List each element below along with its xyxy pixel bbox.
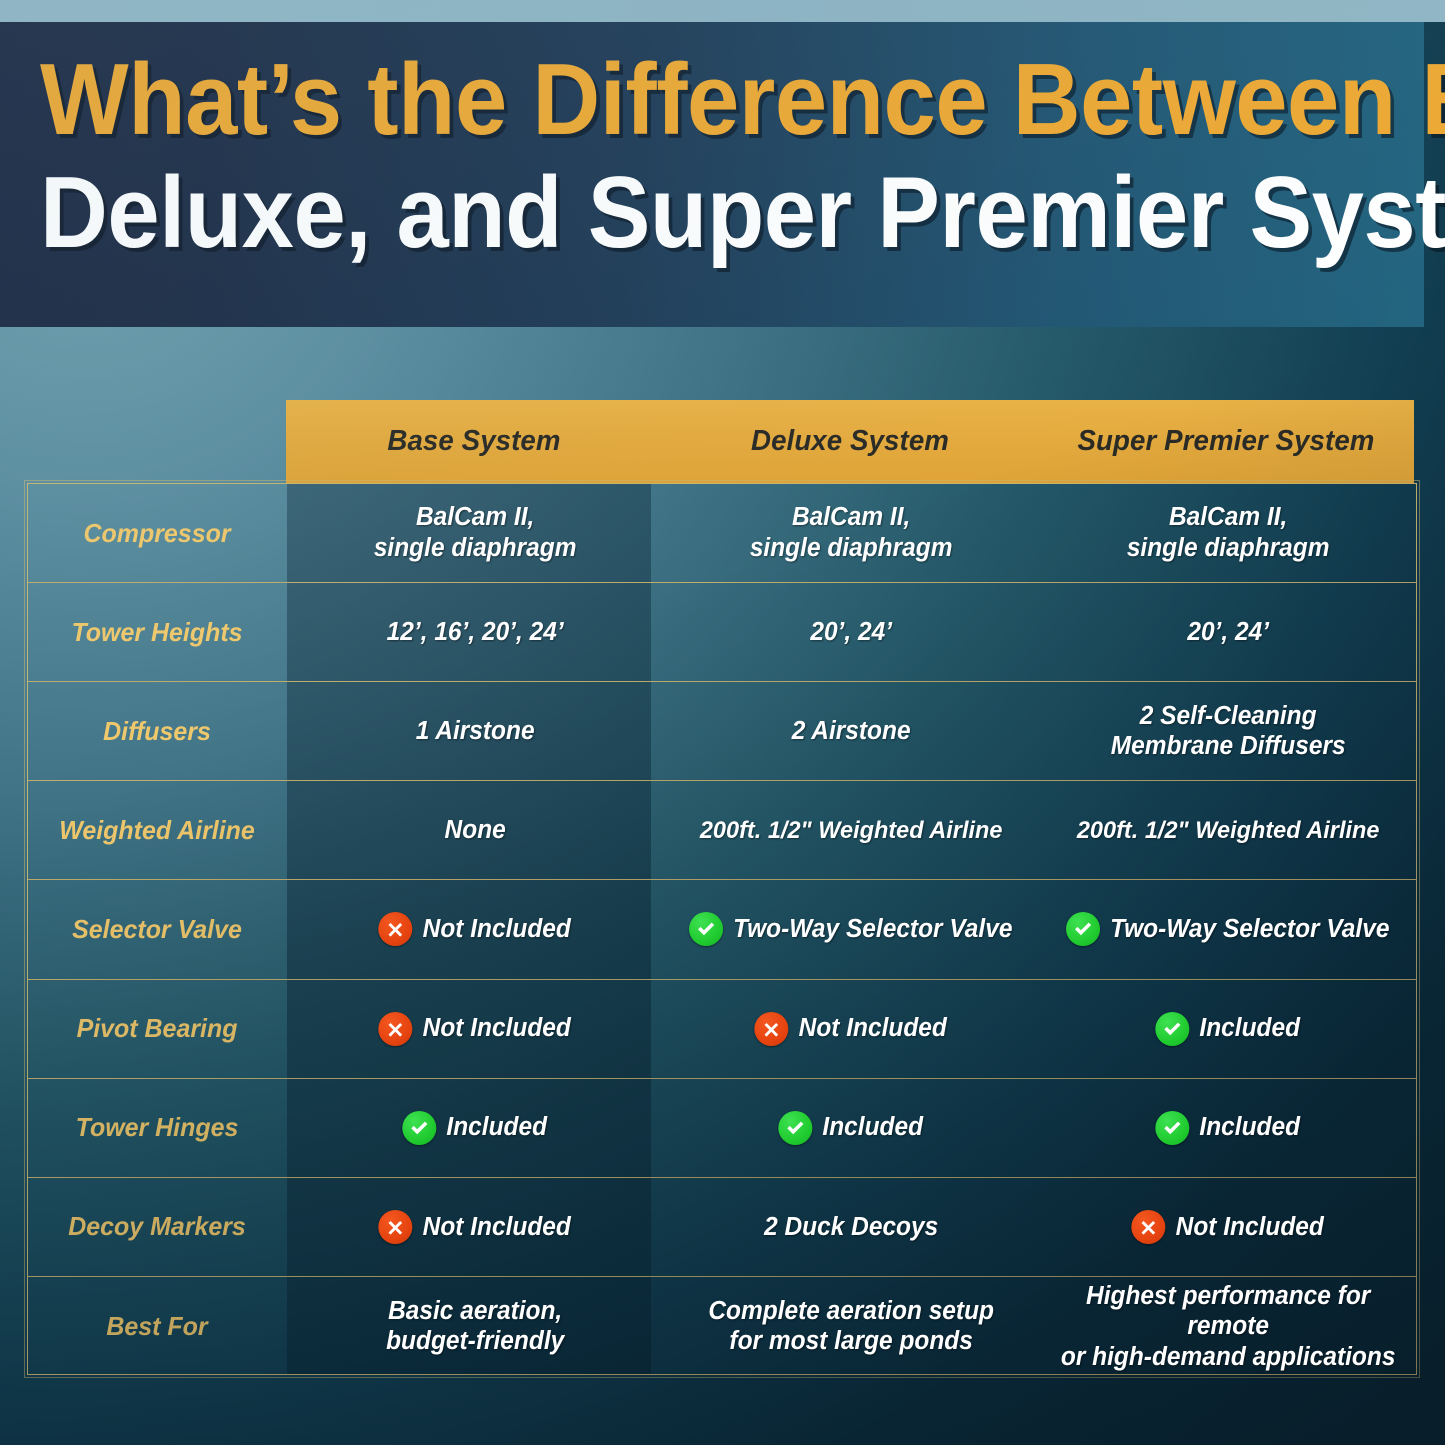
table-body: CompressorBalCam II, single diaphragmBal… (27, 483, 1417, 1375)
table-row: CompressorBalCam II, single diaphragmBal… (28, 484, 1416, 583)
cell-text: 200ft. 1/2" Weighted Airline (700, 816, 1003, 845)
cell-deluxe: 2 Duck Decoys (671, 1178, 1032, 1276)
row-label: Compressor (33, 484, 282, 582)
cell-text: 12’, 16’, 20’, 24’ (387, 617, 564, 648)
row-label: Diffusers (33, 682, 282, 780)
cell-text: Included (823, 1112, 924, 1143)
cell-text: BalCam II, single diaphragm (1126, 502, 1329, 563)
cell-super-premier: Not Included (1047, 1178, 1408, 1276)
cell-text: 20’, 24’ (811, 617, 893, 648)
cell-text: Two-Way Selector Valve (733, 914, 1012, 945)
cell-base: Not Included (295, 980, 656, 1078)
column-header-base: Base System (292, 400, 657, 483)
table-row: Weighted AirlineNone200ft. 1/2" Weighted… (28, 781, 1416, 880)
cell-text: Included (1199, 1112, 1300, 1143)
cell-text: Highest performance for remote or high-d… (1055, 1281, 1401, 1373)
table-row: Pivot BearingNot IncludedNot IncludedInc… (28, 980, 1416, 1079)
cell-text: Not Included (423, 1212, 571, 1243)
cell-base: Included (295, 1079, 656, 1177)
cell-text: Included (1199, 1013, 1300, 1044)
table-row: Best ForBasic aeration, budget-friendlyC… (28, 1277, 1416, 1376)
cell-super-premier: Included (1047, 980, 1408, 1078)
page-title-line-1: What’s the Difference Between Base, (40, 48, 1310, 153)
row-label: Selector Valve (33, 880, 282, 978)
cell-text: BalCam II, single diaphragm (374, 502, 577, 563)
cell-super-premier: 2 Self-Cleaning Membrane Diffusers (1047, 682, 1408, 780)
cell-base: 12’, 16’, 20’, 24’ (295, 583, 656, 681)
cell-text: Included (446, 1112, 547, 1143)
cell-text: Not Included (799, 1013, 947, 1044)
check-circle-icon (690, 912, 724, 946)
cell-deluxe: Not Included (671, 980, 1032, 1078)
table-row: Decoy MarkersNot Included2 Duck DecoysNo… (28, 1178, 1416, 1277)
row-label: Best For (33, 1277, 282, 1376)
cell-deluxe: Two-Way Selector Valve (671, 880, 1032, 978)
row-label: Tower Heights (33, 583, 282, 681)
table-header-row: Base System Deluxe System Super Premier … (286, 400, 1414, 483)
cell-text: BalCam II, single diaphragm (750, 502, 953, 563)
cell-base: Basic aeration, budget-friendly (295, 1277, 656, 1376)
cell-super-premier: Included (1047, 1079, 1408, 1177)
top-accent-strip (0, 0, 1445, 22)
cell-super-premier: BalCam II, single diaphragm (1047, 484, 1408, 582)
cell-text: 2 Self-Cleaning Membrane Diffusers (1110, 701, 1345, 762)
row-label: Decoy Markers (33, 1178, 282, 1276)
cell-text: 1 Airstone (416, 716, 535, 747)
x-circle-icon (379, 1012, 413, 1046)
cell-text: Two-Way Selector Valve (1110, 914, 1389, 945)
cell-base: Not Included (295, 880, 656, 978)
cell-text: 2 Airstone (792, 716, 911, 747)
page-title-line-2: Deluxe, and Super Premier Systems? (40, 161, 1310, 266)
row-label: Tower Hinges (33, 1079, 282, 1177)
table-row: Diffusers1 Airstone2 Airstone2 Self-Clea… (28, 682, 1416, 781)
row-label: Weighted Airline (33, 781, 282, 879)
cell-text: None (445, 815, 506, 846)
table-row: Tower Heights12’, 16’, 20’, 24’20’, 24’2… (28, 583, 1416, 682)
cell-deluxe: Complete aeration setup for most large p… (671, 1277, 1032, 1376)
column-header-deluxe: Deluxe System (668, 400, 1033, 483)
check-circle-icon (403, 1111, 437, 1145)
cell-base: BalCam II, single diaphragm (295, 484, 656, 582)
x-circle-icon (755, 1012, 789, 1046)
infographic-page: What’s the Difference Between Base, Delu… (0, 0, 1445, 1445)
cell-text: Not Included (1175, 1212, 1323, 1243)
cell-text: Basic aeration, budget-friendly (386, 1296, 564, 1357)
row-label: Pivot Bearing (33, 980, 282, 1078)
x-circle-icon (379, 1210, 413, 1244)
cell-text: Complete aeration setup for most large p… (709, 1296, 995, 1357)
cell-text: 200ft. 1/2" Weighted Airline (1077, 816, 1380, 845)
x-circle-icon (1131, 1210, 1165, 1244)
cell-base: None (295, 781, 656, 879)
check-circle-icon (1155, 1111, 1189, 1145)
cell-text: Not Included (423, 1013, 571, 1044)
cell-base: 1 Airstone (295, 682, 656, 780)
cell-deluxe: BalCam II, single diaphragm (671, 484, 1032, 582)
check-circle-icon (1066, 912, 1100, 946)
cell-super-premier: Two-Way Selector Valve (1047, 880, 1408, 978)
cell-super-premier: Highest performance for remote or high-d… (1047, 1277, 1408, 1376)
comparison-table: Base System Deluxe System Super Premier … (27, 400, 1417, 1375)
table-row: Tower HingesIncludedIncludedIncluded (28, 1079, 1416, 1178)
cell-deluxe: 20’, 24’ (671, 583, 1032, 681)
cell-text: Not Included (423, 914, 571, 945)
check-circle-icon (779, 1111, 813, 1145)
cell-super-premier: 20’, 24’ (1047, 583, 1408, 681)
cell-base: Not Included (295, 1178, 656, 1276)
cell-super-premier: 200ft. 1/2" Weighted Airline (1047, 781, 1408, 879)
cell-deluxe: 200ft. 1/2" Weighted Airline (671, 781, 1032, 879)
column-header-super-premier: Super Premier System (1044, 400, 1409, 483)
table-row: Selector ValveNot IncludedTwo-Way Select… (28, 880, 1416, 979)
cell-text: 2 Duck Decoys (764, 1212, 938, 1243)
title-banner: What’s the Difference Between Base, Delu… (0, 22, 1424, 327)
cell-text: 20’, 24’ (1187, 617, 1269, 648)
x-circle-icon (379, 912, 413, 946)
check-circle-icon (1155, 1012, 1189, 1046)
cell-deluxe: 2 Airstone (671, 682, 1032, 780)
cell-deluxe: Included (671, 1079, 1032, 1177)
